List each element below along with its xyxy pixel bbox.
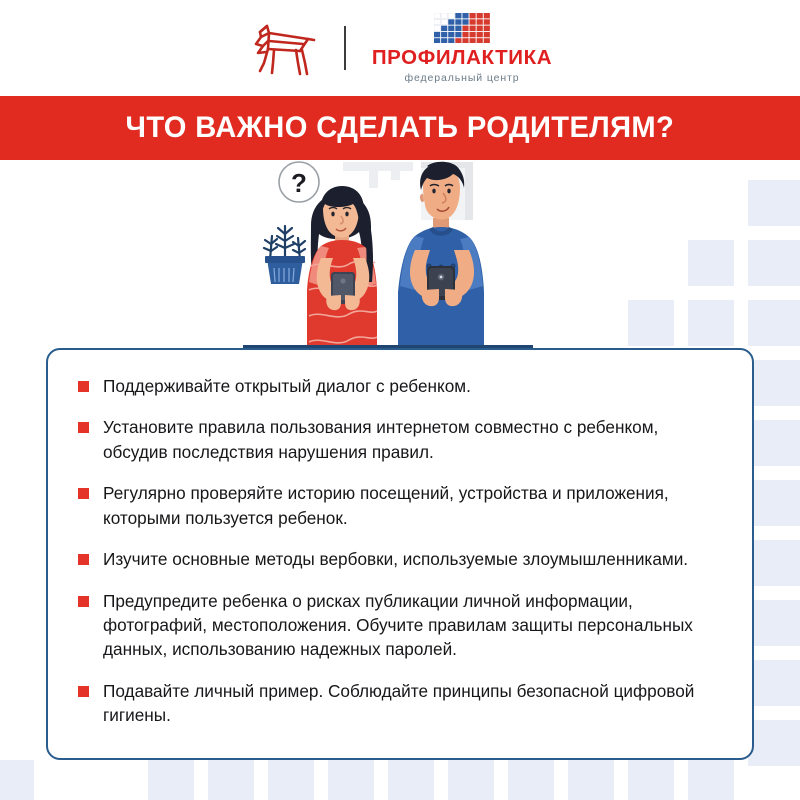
list-item: Предупредите ребенка о рисках публикации… bbox=[78, 589, 722, 662]
flag-grid-mark bbox=[434, 13, 490, 43]
list-item-text: Поддерживайте открытый диалог с ребенком… bbox=[103, 374, 471, 398]
bullet-square-icon bbox=[78, 422, 89, 433]
decorative-square bbox=[748, 240, 800, 286]
decorative-square bbox=[628, 300, 674, 346]
brand-name: ПРОФИЛАКТИКА bbox=[372, 48, 552, 69]
profilaktika-logo: ПРОФИЛАКТИКА федеральный центр bbox=[372, 13, 552, 83]
list-item-text: Подавайте личный пример. Соблюдайте прин… bbox=[103, 679, 722, 728]
decorative-square bbox=[148, 760, 194, 800]
svg-text:?: ? bbox=[291, 168, 307, 198]
decorative-square bbox=[748, 660, 800, 706]
decorative-square bbox=[748, 180, 800, 226]
decorative-square bbox=[568, 760, 614, 800]
list-item: Установите правила пользования интернето… bbox=[78, 415, 722, 464]
decorative-square bbox=[748, 300, 800, 346]
decorative-square bbox=[628, 760, 674, 800]
bullet-square-icon bbox=[78, 596, 89, 607]
list-item-text: Изучите основные методы вербовки, исполь… bbox=[103, 547, 688, 571]
decorative-square bbox=[448, 760, 494, 800]
recommendations-card: Поддерживайте открытый диалог с ребенком… bbox=[46, 348, 754, 760]
decorative-square bbox=[748, 540, 800, 586]
decorative-square bbox=[328, 760, 374, 800]
poster-root: ПРОФИЛАКТИКА федеральный центр ЧТО ВАЖНО… bbox=[0, 0, 800, 800]
illustration-svg: ? bbox=[243, 160, 533, 355]
bullet-square-icon bbox=[78, 488, 89, 499]
list-item: Подавайте личный пример. Соблюдайте прин… bbox=[78, 679, 722, 728]
list-item: Изучите основные методы вербовки, исполь… bbox=[78, 547, 722, 571]
list-item: Регулярно проверяйте историю посещений, … bbox=[78, 481, 722, 530]
bullet-square-icon bbox=[78, 381, 89, 392]
recommendation-list: Поддерживайте открытый диалог с ребенком… bbox=[78, 374, 722, 728]
decorative-square bbox=[208, 760, 254, 800]
thought-bubble-question-mark: ? bbox=[279, 162, 327, 208]
decorative-square bbox=[748, 720, 800, 766]
list-item-text: Предупредите ребенка о рисках публикации… bbox=[103, 589, 722, 662]
decorative-square bbox=[748, 360, 800, 406]
logo-divider bbox=[344, 26, 346, 70]
header: ПРОФИЛАКТИКА федеральный центр bbox=[0, 0, 800, 96]
decorative-square bbox=[508, 760, 554, 800]
decorative-square bbox=[388, 760, 434, 800]
bullet-square-icon bbox=[78, 554, 89, 565]
bullet-square-icon bbox=[78, 686, 89, 697]
parents-with-smartphones-illustration: ? bbox=[243, 160, 533, 355]
list-item-text: Регулярно проверяйте историю посещений, … bbox=[103, 481, 722, 530]
page-title: ЧТО ВАЖНО СДЕЛАТЬ РОДИТЕЛЯМ? bbox=[126, 111, 675, 145]
decorative-square bbox=[688, 760, 734, 800]
decorative-square bbox=[748, 420, 800, 466]
decorative-square bbox=[688, 300, 734, 346]
title-band: ЧТО ВАЖНО СДЕЛАТЬ РОДИТЕЛЯМ? bbox=[0, 96, 800, 160]
decorative-square bbox=[748, 600, 800, 646]
decorative-square bbox=[688, 240, 734, 286]
brand-subtitle: федеральный центр bbox=[404, 73, 519, 84]
decorative-square bbox=[0, 760, 34, 800]
decorative-square bbox=[268, 760, 314, 800]
woman-in-red-shirt-with-phone bbox=[307, 186, 377, 355]
list-item-text: Установите правила пользования интернето… bbox=[103, 415, 722, 464]
horse-line-art-logo bbox=[248, 19, 318, 77]
potted-plant bbox=[264, 226, 305, 284]
list-item: Поддерживайте открытый диалог с ребенком… bbox=[78, 374, 722, 398]
decorative-square bbox=[748, 480, 800, 526]
